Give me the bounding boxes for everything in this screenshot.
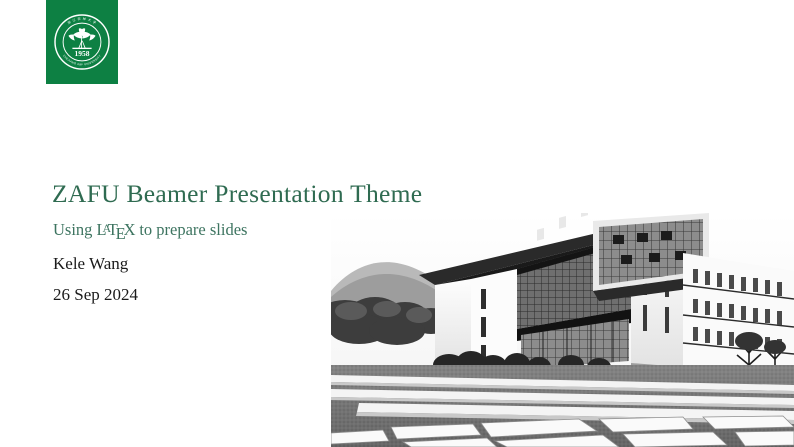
- subtitle-prefix: Using: [53, 220, 97, 239]
- subtitle-suffix: to prepare slides: [135, 220, 247, 239]
- slide-author: Kele Wang: [53, 254, 128, 274]
- zafu-university-emblem-icon: 1958 浙 江 农 林 大 学 ZHEJIANG A&F UNIVERSITY: [52, 12, 112, 72]
- latex-a: A: [102, 221, 110, 235]
- svg-text:1958: 1958: [75, 49, 90, 58]
- slide-title: ZAFU Beamer Presentation Theme: [52, 181, 422, 208]
- slide-date: 26 Sep 2024: [53, 285, 138, 305]
- campus-building-photograph: [331, 213, 794, 447]
- latex-logo: LATEX: [97, 220, 136, 240]
- latex-x: X: [124, 220, 136, 239]
- presentation-title-slide: 1958 浙 江 农 林 大 学 ZHEJIANG A&F UNIVERSITY…: [0, 0, 794, 447]
- zafu-logo-box: 1958 浙 江 农 林 大 学 ZHEJIANG A&F UNIVERSITY: [46, 0, 118, 84]
- latex-e: E: [116, 224, 126, 243]
- slide-subtitle: Using LATEX to prepare slides: [53, 220, 247, 240]
